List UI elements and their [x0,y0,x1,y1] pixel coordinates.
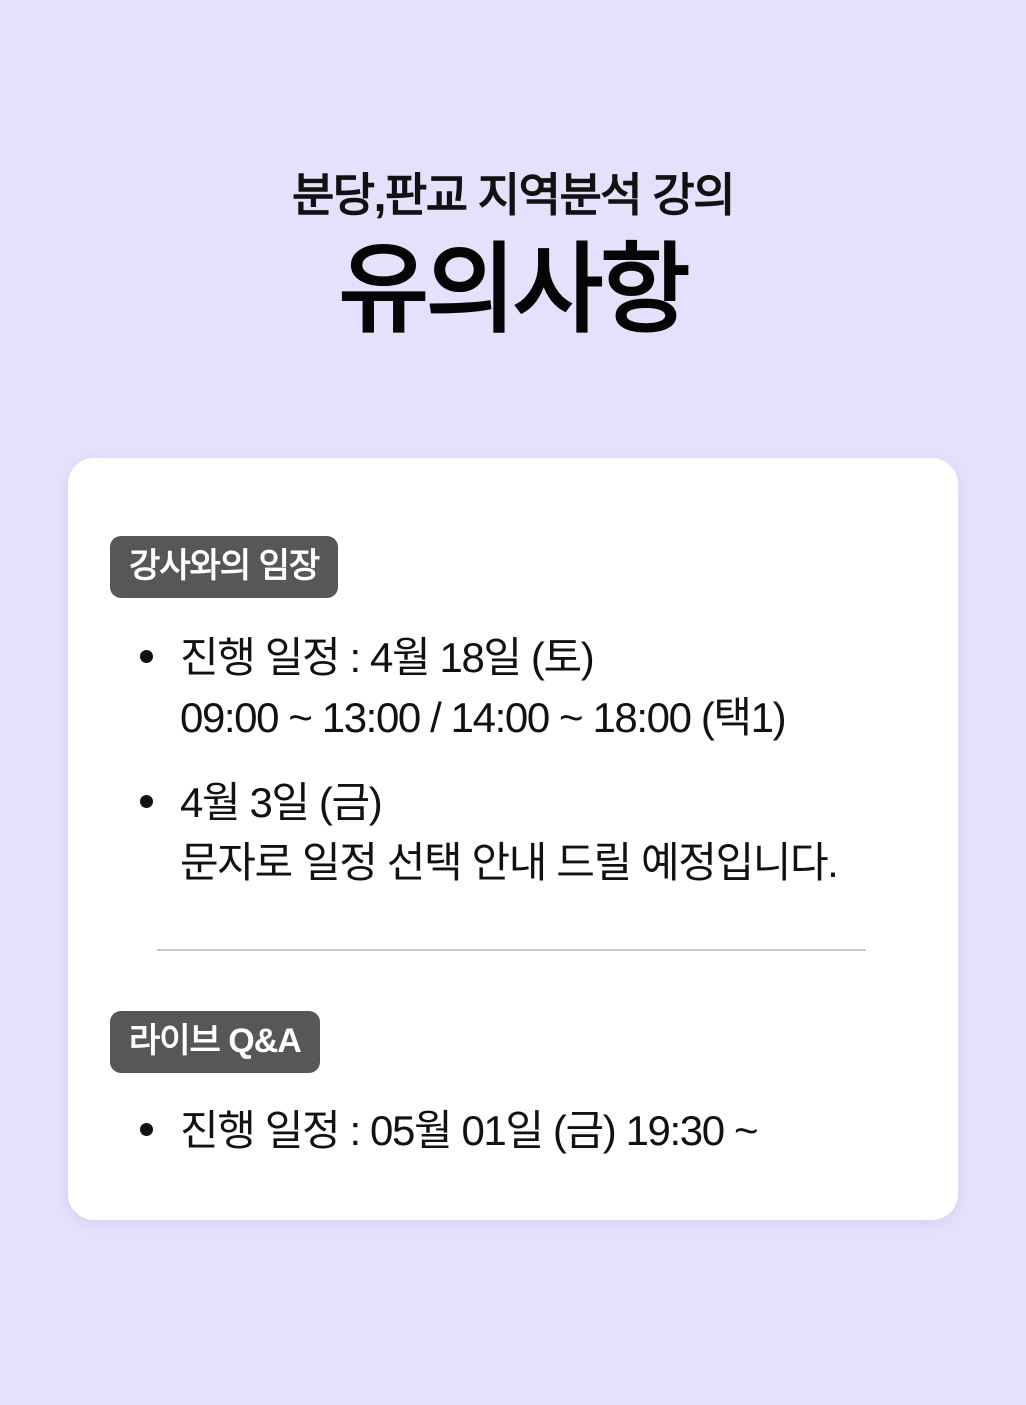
notice-card: 강사와의 임장 진행 일정 : 4월 18일 (토) 09:00 ~ 13:00… [68,458,958,1220]
bullet-list-instructor-visit: 진행 일정 : 4월 18일 (토) 09:00 ~ 13:00 / 14:00… [110,628,914,893]
list-item: 4월 3일 (금) 문자로 일정 선택 안내 드릴 예정입니다. [110,773,914,892]
section-badge-instructor-visit: 강사와의 임장 [110,536,338,598]
section-divider [157,949,866,951]
section-live-qa: 라이브 Q&A 진행 일정 : 05월 01일 (금) 19:30 ~ [110,1011,914,1161]
page-title: 유의사항 [0,238,1026,341]
bullet-dot-icon [140,795,153,808]
bullet-line-secondary: 09:00 ~ 13:00 / 14:00 ~ 18:00 (택1) [180,688,914,748]
bullet-dot-icon [140,650,153,663]
list-item: 진행 일정 : 4월 18일 (토) 09:00 ~ 13:00 / 14:00… [110,628,914,747]
page-subtitle: 분당,판교 지역분석 강의 [0,168,1026,222]
list-item: 진행 일정 : 05월 01일 (금) 19:30 ~ [110,1101,914,1161]
bullet-line-primary: 진행 일정 : 05월 01일 (금) 19:30 ~ [180,1101,914,1161]
bullet-line-secondary: 문자로 일정 선택 안내 드릴 예정입니다. [180,833,914,893]
section-badge-live-qa: 라이브 Q&A [110,1011,320,1073]
page-header: 분당,판교 지역분석 강의 유의사항 [0,168,1026,341]
notice-page: 분당,판교 지역분석 강의 유의사항 강사와의 임장 진행 일정 : 4월 18… [0,0,1026,1405]
bullet-dot-icon [140,1123,153,1136]
notice-card-content: 강사와의 임장 진행 일정 : 4월 18일 (토) 09:00 ~ 13:00… [68,458,958,1160]
section-instructor-visit: 강사와의 임장 진행 일정 : 4월 18일 (토) 09:00 ~ 13:00… [110,536,914,893]
bullet-line-primary: 4월 3일 (금) [180,773,914,833]
bullet-list-live-qa: 진행 일정 : 05월 01일 (금) 19:30 ~ [110,1101,914,1161]
bullet-line-primary: 진행 일정 : 4월 18일 (토) [180,628,914,688]
